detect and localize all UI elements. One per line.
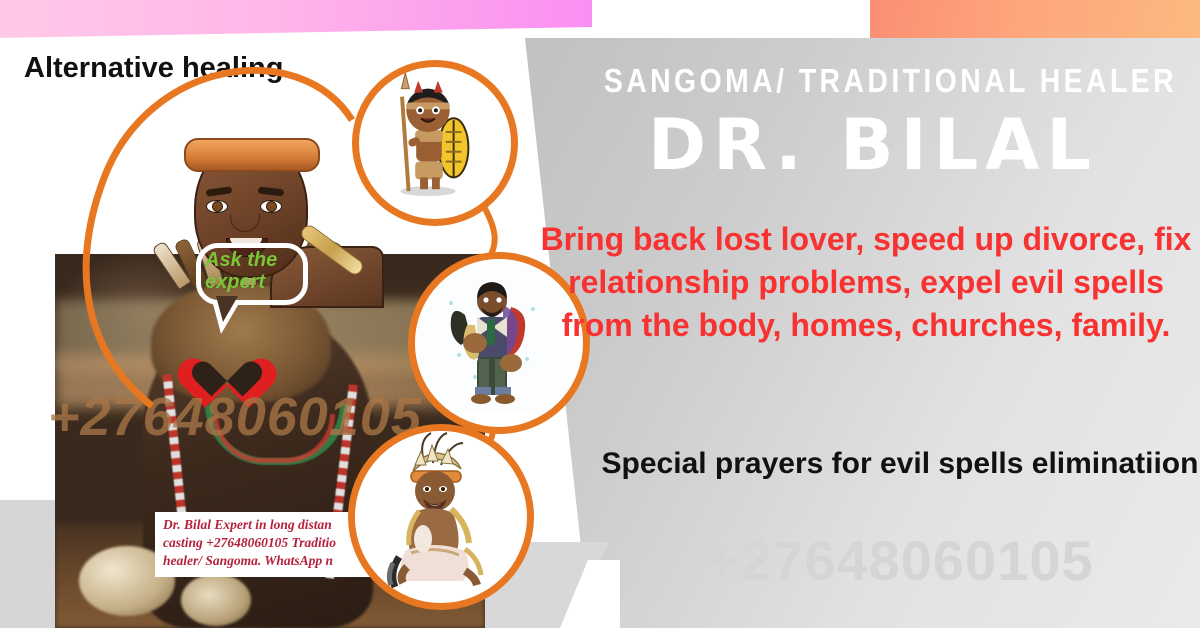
badge-zulu-warrior[interactable]	[352, 60, 518, 226]
poster-canvas: Alternative healing +27648060105 Dr. Bil…	[0, 0, 1200, 628]
illustration-headband	[184, 138, 320, 172]
illustration-pupil-right	[266, 201, 277, 212]
speech-bubble-text: Ask the expert	[205, 249, 315, 294]
zulu-warrior-illustration	[359, 67, 497, 205]
red-heart-icon	[196, 338, 258, 396]
phone-number-watermark: +27648060105	[600, 528, 1200, 593]
orange-top-banner-shape	[870, 0, 1200, 38]
photo-calabash-right	[181, 574, 251, 626]
services-description: Bring back lost lover, speed up divorce,…	[536, 218, 1196, 347]
traditional-dancer-illustration	[355, 431, 513, 589]
healer-name-title: DR. BILAL	[560, 104, 1186, 186]
page-title: Alternative healing	[24, 52, 283, 85]
pink-top-banner-shape	[0, 0, 600, 40]
badge-traditional-dancer[interactable]	[348, 424, 534, 610]
subtitle-kicker: SANGOMA/ TRADITIONAL HEALER	[604, 62, 1142, 100]
illustration-pupil-left	[212, 201, 223, 212]
speech-bubble-tail-inner	[216, 296, 238, 322]
heart-inner-cutout	[205, 347, 249, 389]
special-prayers-text: Special prayers for evil spells eliminat…	[600, 444, 1200, 485]
